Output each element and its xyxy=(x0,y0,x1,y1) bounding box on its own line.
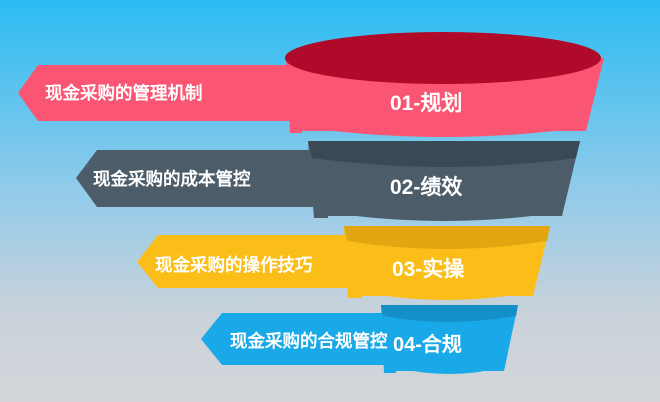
stage-label-3: 03-实操 xyxy=(392,257,465,281)
banner-label-1: 现金采购的管理机制 xyxy=(45,83,203,103)
banner-label-2: 现金采购的成本管控 xyxy=(93,169,251,189)
funnel-diagram-canvas: 现金采购的管理机制 01-规划 现金采购的成本管控 02-绩效 现金采购的操作技… xyxy=(0,0,660,402)
stage-label-4: 04-合规 xyxy=(393,332,462,356)
banner-label-4: 现金采购的合规管控 xyxy=(230,331,388,351)
stage-label-2: 02-绩效 xyxy=(390,175,462,199)
funnel-mouth-ellipse-1 xyxy=(285,32,601,84)
stage-label-1: 01-规划 xyxy=(390,92,462,115)
banner-label-3: 现金采购的操作技巧 xyxy=(155,255,313,275)
